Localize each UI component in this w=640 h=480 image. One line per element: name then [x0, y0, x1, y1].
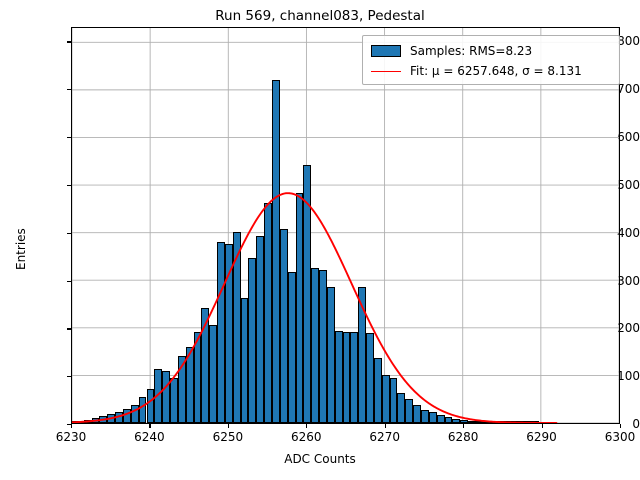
legend-item-samples: Samples: RMS=8.23 — [371, 41, 611, 61]
legend-patch-icon — [371, 45, 401, 57]
x-axis-label: ADC Counts — [0, 452, 640, 466]
x-tick-mark — [306, 424, 307, 428]
x-tick-mark — [542, 424, 543, 428]
y-axis-label: Entries — [14, 228, 28, 270]
legend-label-fit: Fit: μ = 6257.648, σ = 8.131 — [410, 64, 582, 78]
x-tick-label: 6270 — [350, 430, 420, 444]
x-tick-label: 6280 — [428, 430, 498, 444]
matplotlib-figure: Run 569, channel083, Pedestal Entries AD… — [0, 0, 640, 480]
chart-title: Run 569, channel083, Pedestal — [0, 8, 640, 24]
legend-item-fit: Fit: μ = 6257.648, σ = 8.131 — [371, 61, 611, 81]
x-tick-mark — [463, 424, 464, 428]
x-tick-mark — [149, 424, 150, 428]
x-tick-label: 6260 — [271, 430, 341, 444]
legend-box: Samples: RMS=8.23 Fit: μ = 6257.648, σ =… — [362, 35, 620, 85]
x-tick-mark — [385, 424, 386, 428]
x-tick-mark — [620, 424, 621, 428]
x-tick-label: 6290 — [507, 430, 577, 444]
legend-label-samples: Samples: RMS=8.23 — [410, 44, 532, 58]
x-tick-mark — [228, 424, 229, 428]
x-tick-label: 6230 — [36, 430, 106, 444]
gaussian-fit-curve — [72, 28, 619, 423]
legend-line-icon — [371, 71, 401, 72]
x-tick-mark — [71, 424, 72, 428]
x-tick-label: 6240 — [114, 430, 184, 444]
x-tick-label: 6300 — [585, 430, 640, 444]
x-tick-label: 6250 — [193, 430, 263, 444]
plot-area — [71, 27, 620, 424]
